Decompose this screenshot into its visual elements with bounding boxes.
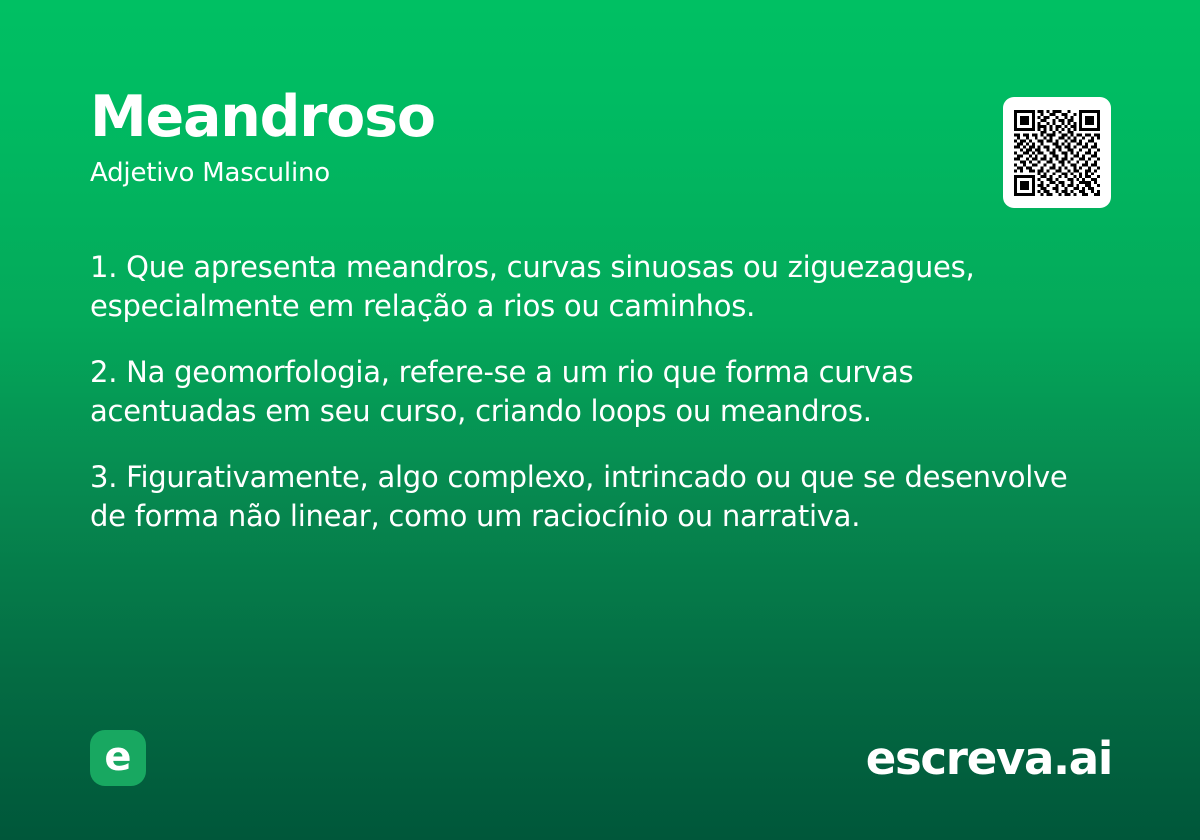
page-title: Meandroso [90, 88, 1110, 148]
card-footer: e escreva.ai [90, 728, 1112, 788]
escreva-logo-badge: e [90, 730, 146, 786]
definition-item: 2. Na geomorfologia, refere-se a um rio … [90, 353, 1070, 431]
definition-item: 1. Que apresenta meandros, curvas sinuos… [90, 248, 1070, 326]
qr-code-panel[interactable] [1003, 97, 1111, 208]
card-header: Meandroso Adjetivo Masculino [90, 88, 1110, 188]
word-class-label: Adjetivo Masculino [90, 158, 1110, 188]
definition-card: Meandroso Adjetivo Masculino [0, 0, 1200, 840]
qr-code-icon [1014, 110, 1100, 196]
definitions-list: 1. Que apresenta meandros, curvas sinuos… [90, 248, 1070, 536]
logo-letter: e [104, 737, 131, 777]
definition-item: 3. Figurativamente, algo complexo, intri… [90, 458, 1070, 536]
brand-wordmark: escreva.ai [866, 736, 1112, 781]
